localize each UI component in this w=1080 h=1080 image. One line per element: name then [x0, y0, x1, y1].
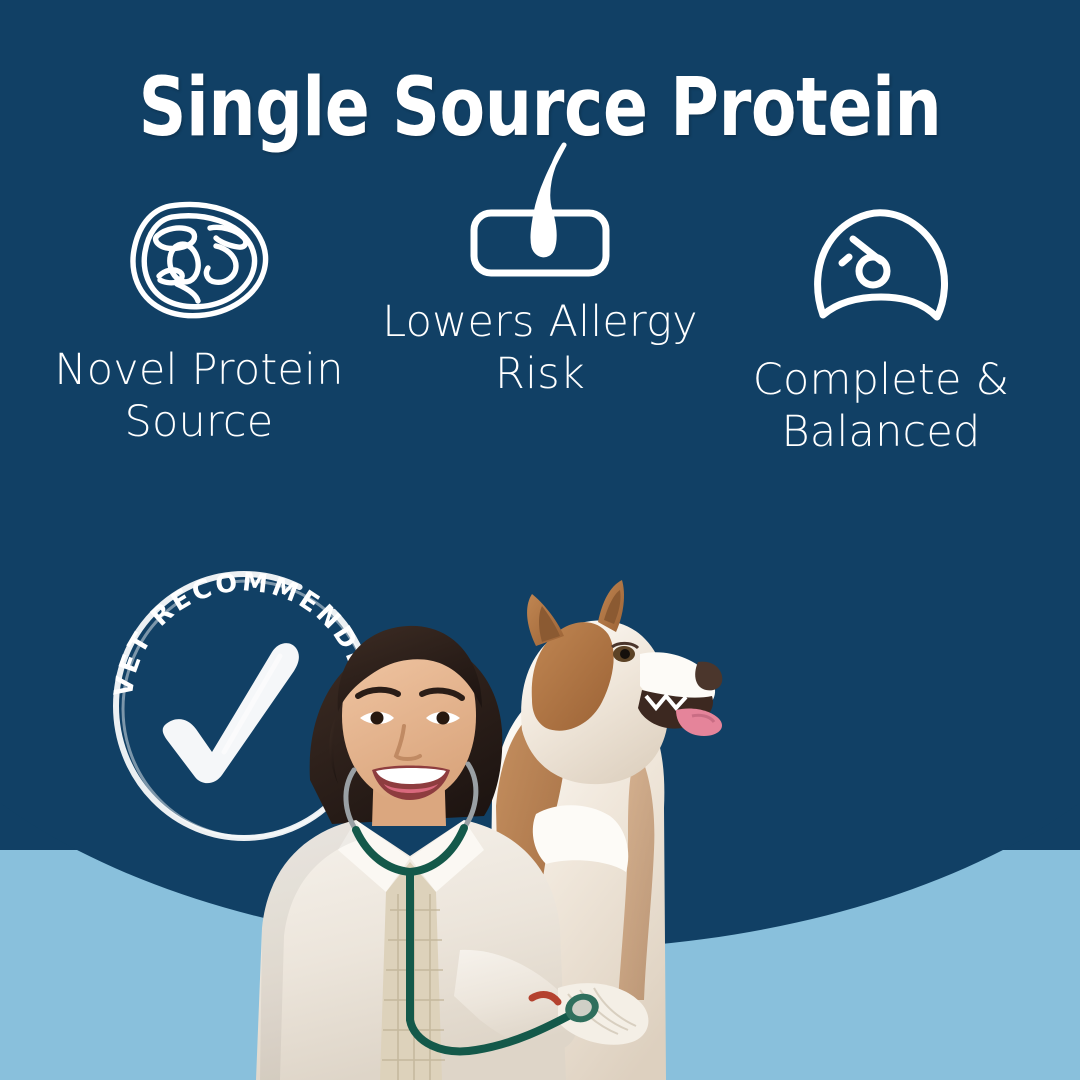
poster-canvas: Single Source Protein Novel Protein Sour… — [0, 0, 1080, 1080]
feature-complete-and-balanced: Complete & Balanced — [716, 206, 1046, 459]
page-title: Single Source Protein — [97, 68, 983, 149]
steak-icon — [124, 196, 274, 328]
feature-label: Novel Protein Source — [34, 344, 364, 449]
feature-label: Complete & Balanced — [716, 354, 1046, 459]
gauge-icon — [811, 206, 951, 338]
feature-label: Lowers Allergy Risk — [375, 296, 705, 401]
feature-row: Novel Protein Source Lowers Allergy Risk — [0, 196, 1080, 459]
hair-follicle-icon — [460, 148, 620, 280]
veterinarian-with-husky-photo — [246, 550, 846, 1080]
feature-novel-protein-source: Novel Protein Source — [34, 196, 364, 449]
feature-lowers-allergy-risk: Lowers Allergy Risk — [375, 148, 705, 401]
